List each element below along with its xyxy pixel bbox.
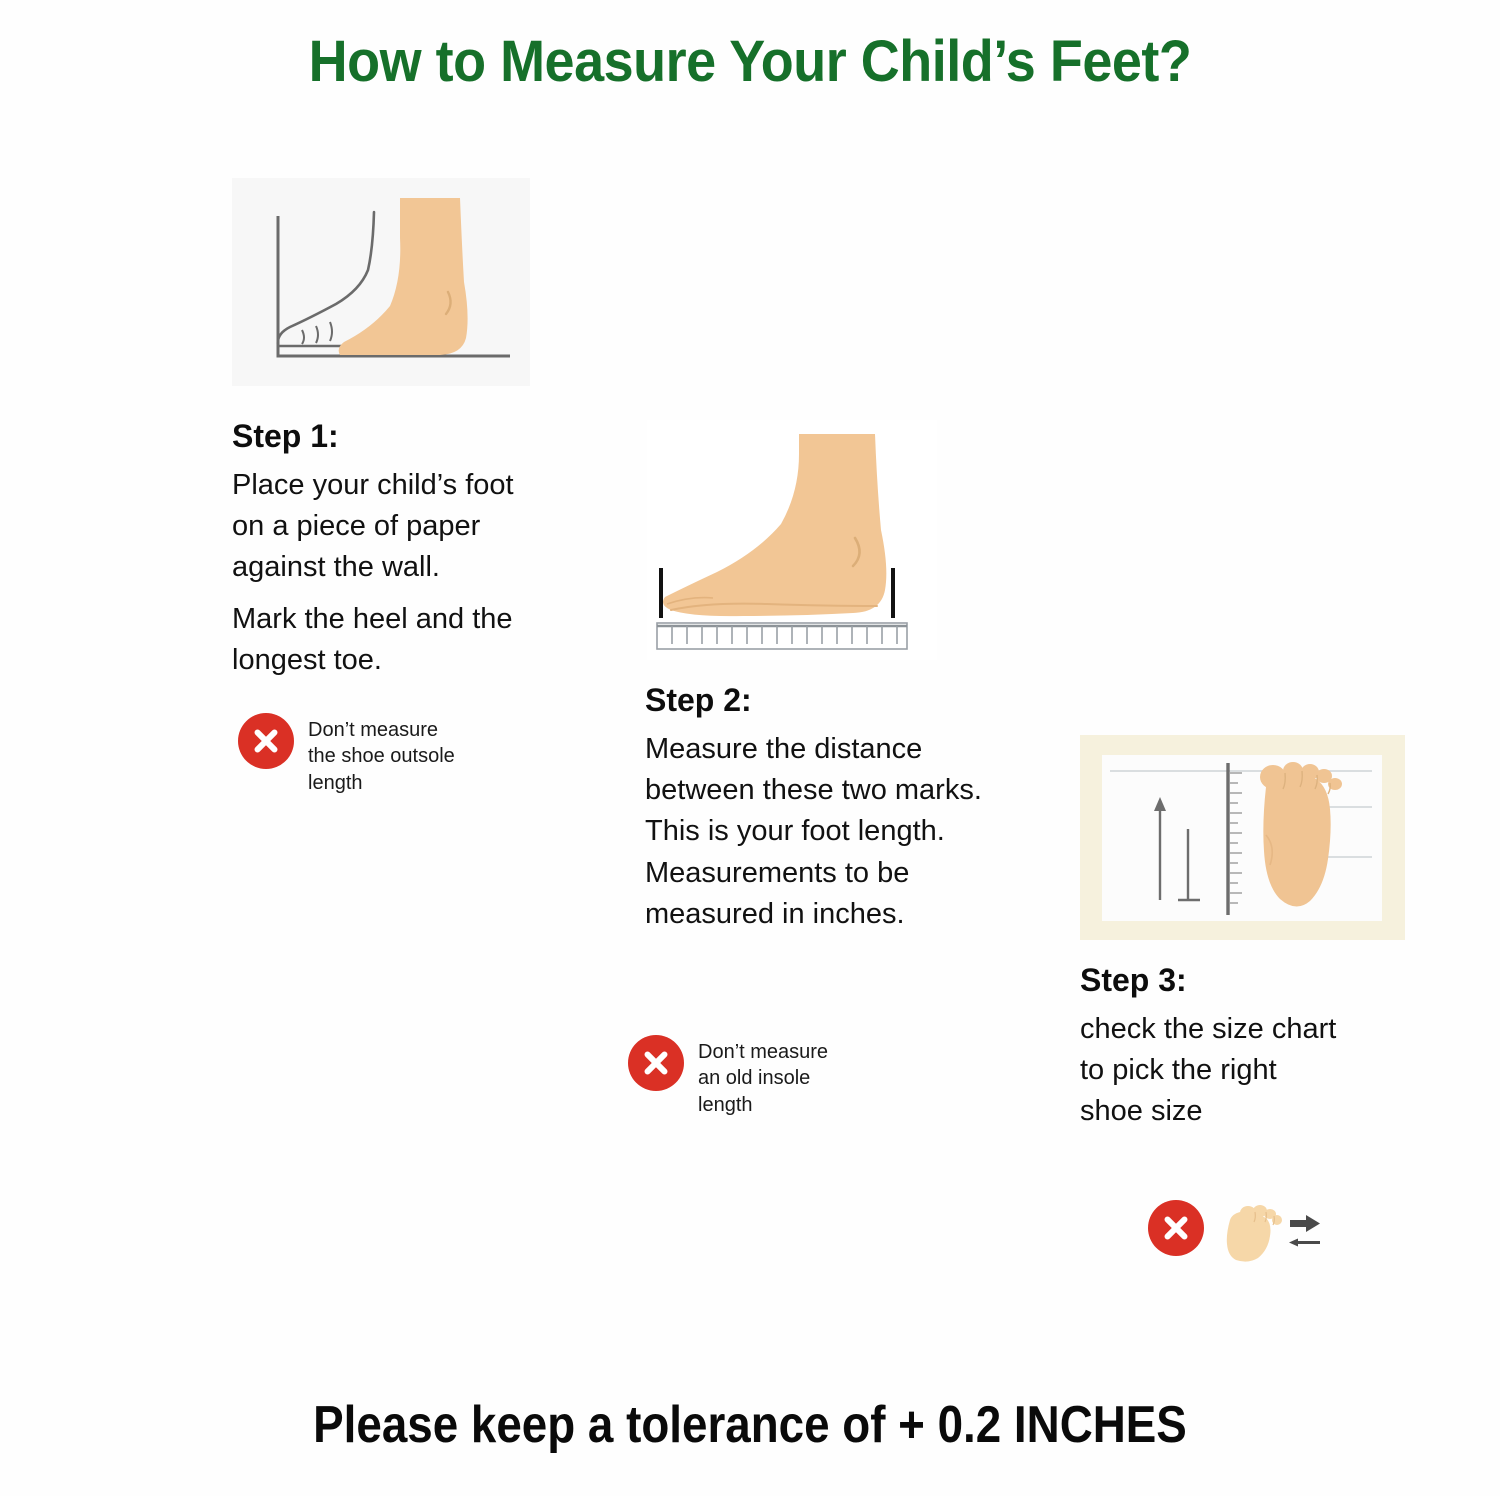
step-1-block: Step 1: Place your child’s foot on a pie… [232, 178, 552, 681]
red-x-icon [628, 1035, 684, 1091]
step-2-warning-text: Don’t measure an old insole length [698, 1035, 828, 1118]
step-3-line-3: shoe size [1080, 1091, 1410, 1132]
step-3-warning [1148, 1200, 1328, 1264]
step-3-line-1: check the size chart [1080, 1009, 1410, 1050]
step-2-line-5: measured in inches. [645, 894, 1075, 935]
step-2-body: Measure the distance between these two m… [645, 729, 1075, 935]
step-1-line-1: Place your child’s foot [232, 465, 552, 506]
step-3-line-2: to pick the right [1080, 1050, 1410, 1091]
step-3-illustration [1080, 735, 1405, 940]
tolerance-note: Please keep a tolerance of + 0.2 INCHES [90, 1395, 1410, 1455]
foot-sole-with-arrows-icon [1218, 1200, 1328, 1264]
step-2-illustration [647, 420, 937, 660]
infographic-page: How to Measure Your Child’s Feet? Step 1… [0, 0, 1500, 1496]
step-1-line-3: against the wall. [232, 547, 552, 588]
step-1-line-5: longest toe. [232, 640, 552, 681]
step-2-warning-line-3: length [698, 1092, 828, 1118]
step-3-block: Step 3: check the size chart to pick the… [1080, 735, 1420, 1133]
step-2-line-3: This is your foot length. [645, 811, 1075, 852]
red-x-icon [238, 713, 294, 769]
step-1-warning: Don’t measure the shoe outsole length [238, 713, 538, 796]
foot-side-view-against-wall-icon [232, 178, 530, 386]
spacer [232, 589, 552, 599]
foot-sole-top-view-with-vertical-ruler-icon [1080, 735, 1405, 940]
step-2-line-2: between these two marks. [645, 770, 1075, 811]
step-1-warning-line-1: Don’t measure [308, 717, 455, 743]
red-x-icon [1148, 1200, 1204, 1256]
step-2-warning: Don’t measure an old insole length [628, 1035, 948, 1118]
step-1-text: Step 1: Place your child’s foot on a pie… [232, 418, 552, 681]
step-2-warning-line-1: Don’t measure [698, 1039, 828, 1065]
step-2-block: Step 2: Measure the distance between the… [645, 420, 1075, 935]
foot-side-view-with-ruler-icon [647, 420, 937, 660]
step-1-heading: Step 1: [232, 418, 552, 455]
step-3-heading: Step 3: [1080, 962, 1410, 999]
step-2-text: Step 2: Measure the distance between the… [645, 682, 1075, 935]
step-3-text: Step 3: check the size chart to pick the… [1080, 962, 1410, 1133]
step-2-warning-line-2: an old insole [698, 1065, 828, 1091]
step-1-illustration [232, 178, 530, 386]
step-1-body: Place your child’s foot on a piece of pa… [232, 465, 552, 681]
page-title: How to Measure Your Child’s Feet? [53, 28, 1448, 95]
step-1-warning-line-2: the shoe outsole [308, 743, 455, 769]
step-3-body: check the size chart to pick the right s… [1080, 1009, 1410, 1133]
step-1-warning-line-3: length [308, 770, 455, 796]
step-1-warning-text: Don’t measure the shoe outsole length [308, 713, 455, 796]
step-1-line-4: Mark the heel and the [232, 599, 552, 640]
step-2-heading: Step 2: [645, 682, 1075, 719]
step-2-line-1: Measure the distance [645, 729, 1075, 770]
step-2-line-4: Measurements to be [645, 853, 1075, 894]
step-1-line-2: on a piece of paper [232, 506, 552, 547]
